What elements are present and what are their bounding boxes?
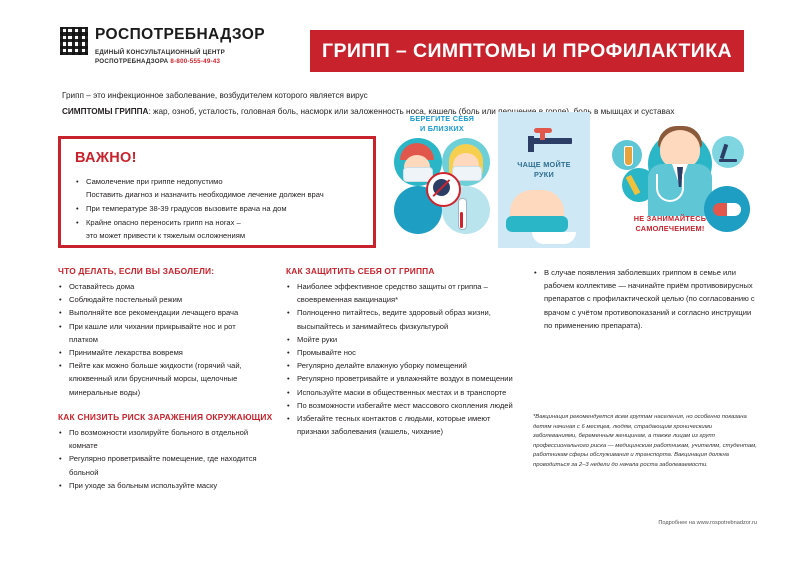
important-box: ВАЖНО! Самолечение при гриппе недопустим… <box>58 136 376 248</box>
vaccination-footnote: *Вакцинация рекомендуется всем группам н… <box>533 413 757 470</box>
caption-no-self-medication: НЕ ЗАНИМАЙТЕСЬ САМОЛЕЧЕНИЕМ! <box>588 214 752 234</box>
caption-line-1: БЕРЕГИТЕ СЕБЯ <box>392 114 492 124</box>
list-item: Регулярно делайте влажную уборку помещен… <box>286 359 514 372</box>
thermometer-icon <box>458 198 467 230</box>
brand-subtitle-line2-text: РОСПОТРЕБНАДЗОРА <box>95 58 168 65</box>
list-item: При уходе за больным используйте маску <box>58 479 276 492</box>
list-item: Полноценно питайтесь, ведите здоровый об… <box>286 306 514 332</box>
no-virus-icon <box>426 172 461 207</box>
section-how-to-protect: КАК ЗАЩИТИТЬ СЕБЯ ОТ ГРИППА Наиболее эфф… <box>286 266 514 438</box>
important-item-main: Крайне опасно переносить грипп на ногах … <box>86 218 241 227</box>
poster-root: РОСПОТРЕБНАДЗОР ЕДИНЫЙ КОНСУЛЬТАЦИОННЫЙ … <box>0 0 800 566</box>
page-title: ГРИПП – СИМПТОМЫ И ПРОФИЛАКТИКА <box>322 40 732 63</box>
sink-icon <box>532 232 576 244</box>
illustration-wash-hands <box>498 112 590 248</box>
list-item: Используйте маски в общественных местах … <box>286 386 514 399</box>
intro-line-1: Грипп – это инфекционное заболевание, во… <box>62 88 752 104</box>
brand-subtitle: ЕДИНЫЙ КОНСУЛЬТАЦИОННЫЙ ЦЕНТР РОСПОТРЕБН… <box>95 48 265 67</box>
brand-text: РОСПОТРЕБНАДЗОР ЕДИНЫЙ КОНСУЛЬТАЦИОННЫЙ … <box>95 27 265 67</box>
antiviral-advice-list: В случае появления заболевших гриппом в … <box>533 266 755 332</box>
list-item: Регулярно проветривайте и увлажняйте воз… <box>286 372 514 385</box>
important-list: Самолечение при гриппе недопустимо Поста… <box>75 175 365 243</box>
important-item: При температуре 38-39 градусов вызовите … <box>75 202 365 215</box>
list-item: Промывайте нос <box>286 346 514 359</box>
important-item-main: Самолечение при гриппе недопустимо <box>86 177 223 186</box>
illustration-band: БЕРЕГИТЕ СЕБЯ И БЛИЗКИХ ЧАЩЕ МОЙТЕ РУКИ … <box>392 112 752 248</box>
qr-code-icon <box>60 27 88 55</box>
caption-line-2: САМОЛЕЧЕНИЕМ! <box>588 224 752 234</box>
faucet-handle-icon <box>540 130 545 140</box>
list-item: В случае появления заболевших гриппом в … <box>533 266 755 332</box>
sleeve-icon <box>506 216 568 232</box>
important-title: ВАЖНО! <box>75 150 137 166</box>
section-antiviral-advice: В случае появления заболевших гриппом в … <box>533 266 755 332</box>
stethoscope-icon <box>656 174 684 202</box>
list-item: По возможности изолируйте больного в отд… <box>58 426 276 452</box>
section-reduce-risk: КАК СНИЗИТЬ РИСК ЗАРАЖЕНИЯ ОКРУЖАЮЩИХ По… <box>58 412 276 492</box>
poster-header: РОСПОТРЕБНАДЗОР ЕДИНЫЙ КОНСУЛЬТАЦИОННЫЙ … <box>0 0 800 78</box>
caption-line-1: ЧАЩЕ МОЙТЕ <box>498 160 590 170</box>
microscope-icon <box>712 136 744 168</box>
section-heading: ЧТО ДЕЛАТЬ, ЕСЛИ ВЫ ЗАБОЛЕЛИ: <box>58 266 266 276</box>
reduce-risk-list: По возможности изолируйте больного в отд… <box>58 426 276 492</box>
brand-subtitle-line1: ЕДИНЫЙ КОНСУЛЬТАЦИОННЫЙ ЦЕНТР <box>95 48 265 58</box>
important-item-cont: Поставить диагноз и назначить необходимо… <box>86 188 365 201</box>
list-item: При кашле или чихании прикрывайте нос и … <box>58 320 266 346</box>
list-item: Мойте руки <box>286 333 514 346</box>
caption-line-2: РУКИ <box>498 170 590 180</box>
brand-block: РОСПОТРЕБНАДЗОР ЕДИНЫЙ КОНСУЛЬТАЦИОННЫЙ … <box>60 27 265 67</box>
important-item-main: При температуре 38-39 градусов вызовите … <box>86 204 287 213</box>
important-item-cont: это может привести к тяжелым осложнениям <box>86 229 365 242</box>
title-banner: ГРИПП – СИМПТОМЫ И ПРОФИЛАКТИКА <box>310 30 744 72</box>
list-item: Принимайте лекарства вовремя <box>58 346 266 359</box>
brand-subtitle-line2: РОСПОТРЕБНАДЗОРА 8-800-555-49-43 <box>95 57 265 67</box>
section-heading: КАК ЗАЩИТИТЬ СЕБЯ ОТ ГРИППА <box>286 266 514 276</box>
list-item: Регулярно проветривайте помещение, где н… <box>58 452 276 478</box>
caption-protect-yourself: БЕРЕГИТЕ СЕБЯ И БЛИЗКИХ <box>392 114 492 134</box>
brand-name: РОСПОТРЕБНАДЗОР <box>95 27 265 43</box>
caption-line-1: НЕ ЗАНИМАЙТЕСЬ <box>588 214 752 224</box>
list-item: Соблюдайте постельный режим <box>58 293 266 306</box>
caption-wash-hands: ЧАЩЕ МОЙТЕ РУКИ <box>498 160 590 180</box>
caption-line-2: И БЛИЗКИХ <box>392 124 492 134</box>
symptoms-label: СИМПТОМЫ ГРИППА <box>62 107 148 116</box>
section-what-to-do: ЧТО ДЕЛАТЬ, ЕСЛИ ВЫ ЗАБОЛЕЛИ: Оставайтес… <box>58 266 266 399</box>
list-item: По возможности избегайте мест массового … <box>286 399 514 412</box>
source-link[interactable]: Подробнее на www.rospotrebnadzor.ru <box>533 520 757 526</box>
list-item: Оставайтесь дома <box>58 280 266 293</box>
hotline-phone: 8-800-555-49-43 <box>170 58 220 65</box>
section-heading: КАК СНИЗИТЬ РИСК ЗАРАЖЕНИЯ ОКРУЖАЮЩИХ <box>58 412 276 422</box>
list-item: Избегайте тесных контактов с людьми, кот… <box>286 412 514 438</box>
faucet-spout-icon <box>528 136 534 152</box>
what-to-do-list: Оставайтесь дома Соблюдайте постельный р… <box>58 280 266 399</box>
list-item: Выполняйте все рекомендации лечащего вра… <box>58 306 266 319</box>
doctor-head-icon <box>660 130 700 168</box>
list-item: Наиболее эффективное средство защиты от … <box>286 280 514 306</box>
test-tube-icon <box>612 140 642 170</box>
how-to-protect-list: Наиболее эффективное средство защиты от … <box>286 280 514 438</box>
important-item: Крайне опасно переносить грипп на ногах … <box>75 216 365 242</box>
faucet-pipe-icon <box>532 138 572 144</box>
list-item: Пейте как можно больше жидкости (горячий… <box>58 359 266 399</box>
important-item: Самолечение при гриппе недопустимо Поста… <box>75 175 365 201</box>
